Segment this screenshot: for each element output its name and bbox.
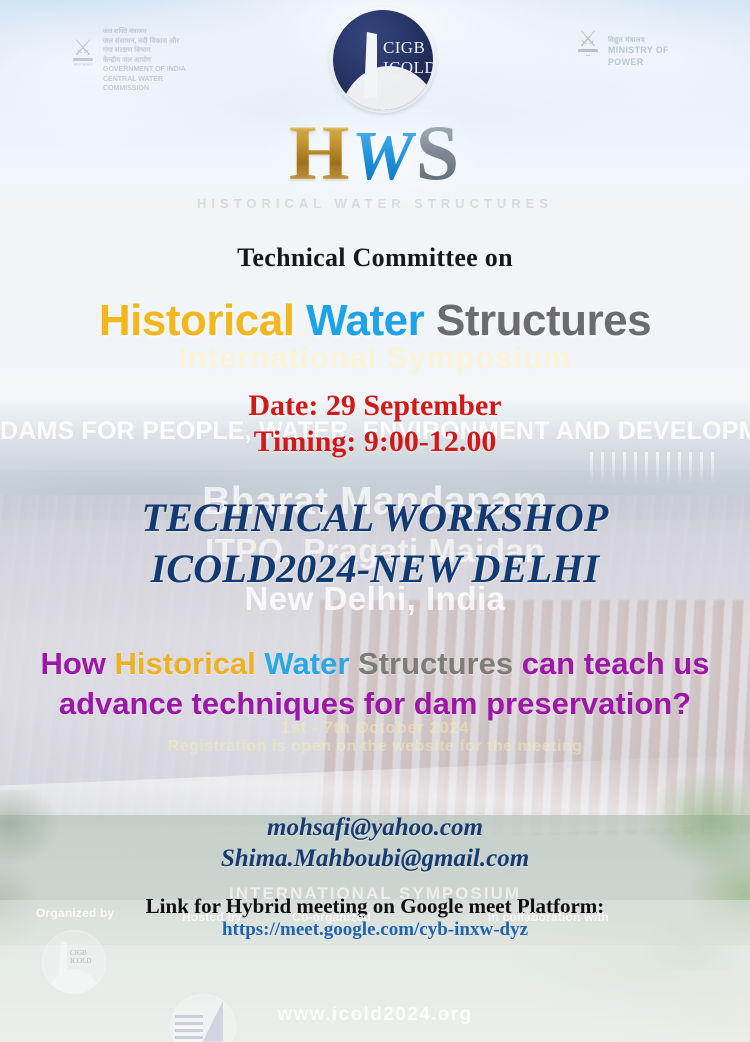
workshop-headline: TECHNICAL WORKSHOP ICOLD2024-NEW DELHI [0,492,750,594]
emblem-right-text: विद्युत मंत्रालय MINISTRY OF POWER [608,36,669,68]
partner-label-organized-by: Organized by [36,906,114,920]
contact-email-1[interactable]: mohsafi@yahoo.com [0,812,750,843]
workshop-line-1: TECHNICAL WORKSHOP [0,492,750,543]
emblem-motto: भारत सरकार [73,63,93,68]
hws-wordmark-subtitle: HISTORICAL WATER STRUCTURES [0,196,750,211]
schedule-timing: Timing: 9:00-12.00 [0,424,750,460]
partner-label-in-collaboration-with: in collaboration with [488,910,609,924]
title-word-water: Water [306,296,424,345]
workshop-line-2: ICOLD2024-NEW DELHI [0,543,750,594]
partner-logo-incold [170,994,236,1042]
hws-wordmark: HWS [0,112,750,198]
icold-roundel-text: CIGB ICOLD [383,38,433,78]
emblem-left-line2: जल संसाधन, नदी विकास और गंगा संरक्षण विभ… [103,37,190,56]
question-word-historical: Historical [115,646,256,681]
schedule-block: Date: 29 September Timing: 9:00-12.00 [0,388,750,460]
title-word-structures: Structures [436,296,651,345]
emblem-right-hindi: विद्युत मंत्रालय [608,36,669,45]
partner-logo-strip: Organized by Hosted by Co-organized in c… [0,898,750,1008]
india-state-emblem-icon: ⚔ ••• [575,30,601,74]
technical-committee-kicker: Technical Committee on [0,243,750,273]
emblem-central-water-commission: ⚔ भारत सरकार जल शक्ति मंत्रालय जल संसाधन… [70,28,190,100]
emblem-right-line2: POWER [608,57,644,67]
emblem-left-line3: केन्द्रीय जल आयोग [103,56,190,65]
schedule-date: Date: 29 September [0,388,750,424]
question-word-canteach: can teach [522,646,665,681]
cigb-icold-roundel-icon: CIGB ICOLD [333,10,433,110]
partner-label-hosted-by: Hosted by [182,910,242,924]
partner-logo-cigb-icold: CIGB ICOLD [42,930,106,994]
icold-pylon-shape [364,32,377,98]
poster-root: International Symposium DAMS FOR PEOPLE,… [0,0,750,1042]
emblem-ministry-of-power: ⚔ ••• विद्युत मंत्रालय MINISTRY OF POWER [575,30,700,102]
hws-letter-s: S [416,109,461,196]
title-word-historical: Historical [99,296,295,345]
page-title: Historical Water Structures [0,296,750,346]
workshop-question: How Historical Water Structures can teac… [30,644,720,724]
icold-line-icold: ICOLD [383,58,433,78]
india-state-emblem-icon: ⚔ भारत सरकार [70,39,96,83]
question-line-3: preservation? [486,686,691,721]
emblem-left-line5: CENTRAL WATER COMMISSION [103,75,190,94]
partner-logo-cigb-icold-text: CIGB ICOLD [70,949,105,965]
emblem-left-hindi: जल शक्ति मंत्रालय [103,28,190,37]
contact-email-2[interactable]: Shima.Mahboubi@gmail.com [0,843,750,874]
contact-emails: mohsafi@yahoo.com Shima.Mahboubi@gmail.c… [0,812,750,874]
hws-letter-h: H [289,109,352,196]
emblem-left-text: जल शक्ति मंत्रालय जल संसाधन, नदी विकास औ… [103,28,190,93]
question-word-structures: Structures [358,646,513,681]
partner-label-co-organized: Co-organized [292,910,371,924]
question-word-water: Water [264,646,349,681]
hws-letter-w: W [352,118,416,195]
icold-line-cigb: CIGB [383,38,433,58]
question-word-how: How [40,646,105,681]
emblem-left-line4: GOVERNMENT OF INDIA [103,65,190,74]
emblem-right-line1: MINISTRY OF [608,45,669,55]
